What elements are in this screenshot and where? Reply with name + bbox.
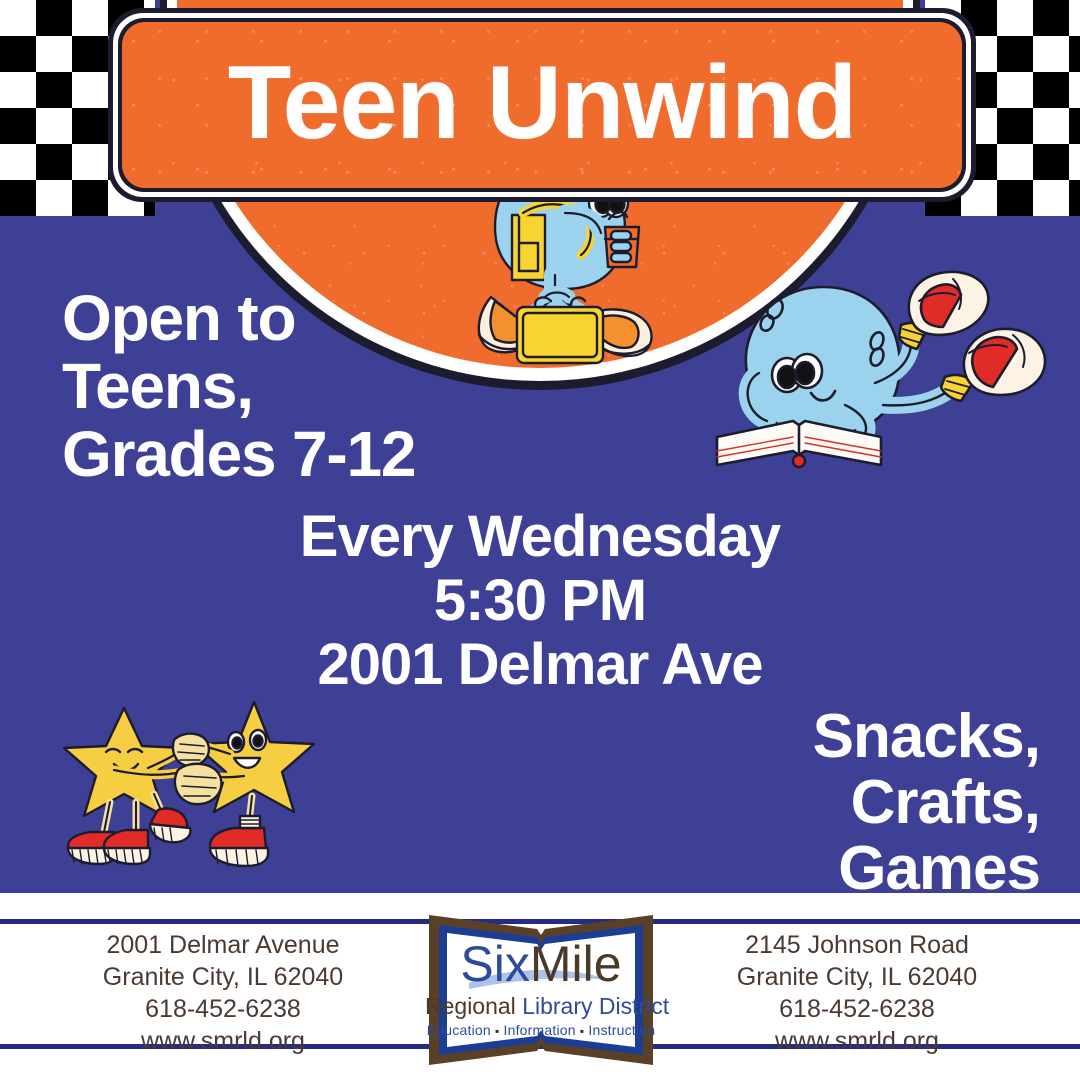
- schedule-day: Every Wednesday: [0, 508, 1080, 566]
- activity-2: Crafts,: [813, 772, 1040, 834]
- schedule-text-block: Every Wednesday 5:30 PM 2001 Delmar Ave: [0, 508, 1080, 700]
- activity-1: Snacks,: [813, 706, 1040, 768]
- library-logo: SixMile Regional Library District Educat…: [425, 909, 657, 1071]
- title-banner: Teen Unwind: [108, 8, 976, 202]
- reading-blob-character: [715, 265, 1075, 480]
- location-phone: 618-452-6238: [58, 993, 388, 1025]
- fist-bump-stars: [52, 698, 332, 888]
- location-website[interactable]: www.smrld.org: [58, 1025, 388, 1057]
- location-block-delmar: 2001 Delmar Avenue Granite City, IL 6204…: [58, 929, 388, 1057]
- location-city: Granite City, IL 62040: [58, 961, 388, 993]
- audience-line-2: Teens,: [62, 354, 532, 418]
- location-phone: 618-452-6238: [692, 993, 1022, 1025]
- location-city: Granite City, IL 62040: [692, 961, 1022, 993]
- activity-3: Games: [813, 838, 1040, 893]
- location-street: 2001 Delmar Avenue: [58, 929, 388, 961]
- audience-line-1: Open to: [62, 286, 532, 350]
- schedule-time: 5:30 PM: [0, 572, 1080, 630]
- audience-line-3: Grades 7-12: [62, 422, 532, 486]
- poster-main-panel: Teen Unwind Open to Teens, Grades 7-12 E…: [0, 0, 1080, 893]
- poster-root: Teen Unwind Open to Teens, Grades 7-12 E…: [0, 0, 1080, 1080]
- audience-text-block: Open to Teens, Grades 7-12: [62, 286, 532, 490]
- open-book-icon: [425, 909, 657, 1071]
- activities-text-block: Snacks, Crafts, Games: [813, 706, 1040, 893]
- schedule-location: 2001 Delmar Ave: [0, 636, 1080, 694]
- location-block-johnson: 2145 Johnson Road Granite City, IL 62040…: [692, 929, 1022, 1057]
- location-website[interactable]: www.smrld.org: [692, 1025, 1022, 1057]
- location-street: 2145 Johnson Road: [692, 929, 1022, 961]
- page-title: Teen Unwind: [108, 51, 976, 155]
